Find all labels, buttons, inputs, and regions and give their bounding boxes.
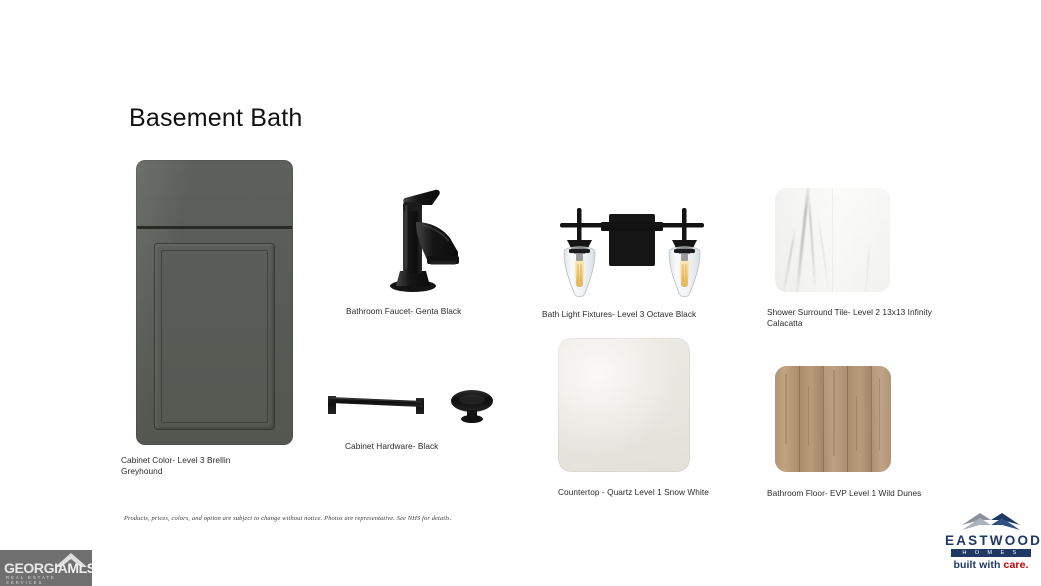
tile-vein [817,212,830,292]
floor-grain [856,396,857,451]
floor-plank [799,366,823,472]
cabinet-shaker-panel [155,244,274,429]
floor-plank [775,366,799,472]
tile-vein [865,244,871,292]
bath-light-fixtures-image [551,196,713,301]
eastwood-homes-logo: EASTWOOD H O M E S built with care. [945,508,1037,571]
bathroom-faucet-image [372,172,484,294]
tile-vein [807,190,816,292]
disclaimer-text: Products, prices, colors, and option are… [124,515,452,522]
bathroom-faucet-caption: Bathroom Faucet- Genta Black [346,306,526,317]
floor-plank [823,366,847,472]
countertop-swatch [558,338,690,472]
bathroom-floor-swatch [775,366,891,472]
slide-canvas: Basement Bath Cabinet Color- Level 3 Bre… [0,0,1041,586]
eastwood-roof-icon [960,508,1022,533]
cabinet-color-caption: Cabinet Color- Level 3 Brellin Greyhound [121,455,271,476]
shower-surround-tile-caption: Shower Surround Tile- Level 2 13x13 Infi… [767,307,967,328]
mls-secondary: MLS [67,560,92,576]
mls-wordmark: GEORGIAMLS [4,561,92,575]
cabinet-hardware-caption: Cabinet Hardware- Black [345,441,515,452]
floor-grain [785,374,787,444]
mls-primary: GEORGIA [4,560,67,576]
eastwood-tagline: built with care. [945,559,1037,571]
shower-surround-tile-swatch [775,188,890,292]
bath-light-fixtures-caption: Bath Light Fixtures- Level 3 Octave Blac… [542,309,710,320]
eastwood-subtitle: H O M E S [951,549,1031,557]
floor-plank-seam [871,366,872,472]
floor-plank [847,366,871,472]
countertop-caption: Countertop - Quartz Level 1 Snow White [558,487,718,498]
floor-plank-seam [847,366,848,472]
georgia-mls-watermark: GEORGIAMLS REAL ESTATE SERVICES [0,550,92,586]
bathroom-floor-caption: Bathroom Floor- EVP Level 1 Wild Dunes [767,488,967,499]
floor-plank [871,366,891,472]
floor-plank-seam [799,366,800,472]
cabinet-panel-inner-bevel [161,250,268,423]
tile-vein [782,228,796,292]
floor-grain [879,378,880,450]
cabinet-drawer-seam [137,226,292,229]
tile-grout-line [832,188,833,292]
page-title: Basement Bath [129,104,303,133]
floor-grain [808,386,809,446]
cabinet-door-image [136,160,293,445]
tagline-accent: care. [1004,559,1029,571]
cabinet-hardware-image [324,384,500,434]
eastwood-wordmark: EASTWOOD [945,534,1037,548]
floor-plank-seam [823,366,824,472]
mls-subtitle: REAL ESTATE SERVICES [6,575,92,585]
tagline-prefix: built with [953,559,1003,571]
floor-grain [833,370,835,456]
